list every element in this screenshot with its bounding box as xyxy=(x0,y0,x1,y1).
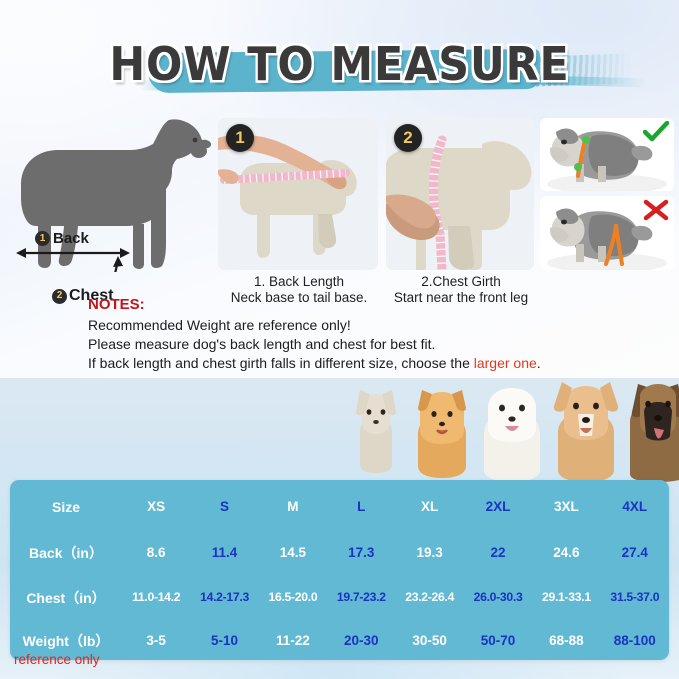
notes-heading: NOTES: xyxy=(88,296,145,313)
cell-size-2xl: 2XL xyxy=(464,500,532,514)
row-label-size: Size xyxy=(10,500,122,514)
dog-breeds-photo-band xyxy=(338,378,679,482)
title-banner: HOW TO MEASURE xyxy=(0,33,679,105)
size-chart-infographic: HOW TO MEASURE xyxy=(0,0,679,679)
panel-number-badge-2: 2 xyxy=(394,124,422,152)
cell-chest-s: 14.2-17.3 xyxy=(190,591,258,603)
table-footnote: reference only xyxy=(14,652,100,667)
dog-corgi xyxy=(554,382,619,482)
table-row-size: Size XS S M L XL 2XL 3XL 4XL xyxy=(10,484,669,529)
caption-chest-girth: 2.Chest Girth Start near the front leg xyxy=(386,274,536,306)
cross-icon xyxy=(643,199,669,221)
cell-size-xl: XL xyxy=(395,500,463,514)
cell-size-xs: XS xyxy=(122,500,190,514)
dog-bichon xyxy=(484,388,540,482)
dog-german-shepherd xyxy=(630,384,679,482)
page-title: HOW TO MEASURE xyxy=(24,33,655,95)
cell-size-3xl: 3XL xyxy=(532,500,600,514)
cell-chest-xl: 23.2-26.4 xyxy=(395,591,463,603)
cell-back-s: 11.4 xyxy=(190,546,258,560)
dog-breeds-illustration xyxy=(338,378,679,482)
back-number-badge: 1 xyxy=(35,231,50,246)
caption-back-line2: Neck base to tail base. xyxy=(218,290,380,306)
cell-weight-3xl: 68-88 xyxy=(532,634,600,648)
incorrect-fit-photo xyxy=(540,196,674,270)
correct-fit-photo xyxy=(540,118,674,191)
chest-number-badge: 2 xyxy=(52,289,67,304)
notes-line-1: Recommended Weight are reference only! xyxy=(88,316,658,335)
cell-back-2xl: 22 xyxy=(464,546,532,560)
cell-chest-m: 16.5-20.0 xyxy=(259,591,327,603)
notes-line-2: Please measure dog's back length and che… xyxy=(88,335,658,354)
notes-line-3-pre: If back length and chest girth falls in … xyxy=(88,355,474,371)
row-label-weight: Weight（lb） xyxy=(10,634,122,648)
cell-weight-s: 5-10 xyxy=(190,634,258,648)
notes-line-3-highlight: larger one xyxy=(474,355,537,371)
dog-silhouette-icon xyxy=(2,112,214,272)
cell-chest-l: 19.7-23.2 xyxy=(327,591,395,603)
chest-girth-photo: 2 xyxy=(386,118,534,270)
top-section: HOW TO MEASURE xyxy=(0,0,679,378)
cell-back-m: 14.5 xyxy=(259,546,327,560)
cell-chest-2xl: 26.0-30.3 xyxy=(464,591,532,603)
cell-back-4xl: 27.4 xyxy=(601,546,669,560)
caption-chest-line1: 2.Chest Girth xyxy=(386,274,536,290)
cell-weight-m: 11-22 xyxy=(259,634,327,648)
table-row-weight: Weight（lb） 3-5 5-10 11-22 20-30 30-50 50… xyxy=(10,618,669,663)
cell-chest-3xl: 29.1-33.1 xyxy=(532,591,600,603)
caption-back-line1: 1. Back Length xyxy=(218,274,380,290)
cell-back-xl: 19.3 xyxy=(395,546,463,560)
dog-silhouette-diagram: 1 Back 2 Chest xyxy=(2,112,214,272)
dog-chihuahua xyxy=(356,390,396,473)
notes-body: Recommended Weight are reference only! P… xyxy=(88,316,658,373)
cell-weight-l: 20-30 xyxy=(327,634,395,648)
back-measure-label: 1 Back xyxy=(35,230,89,247)
cell-size-m: M xyxy=(259,500,327,514)
cell-weight-xs: 3-5 xyxy=(122,634,190,648)
size-chart-table: Size XS S M L XL 2XL 3XL 4XL Back（in） 8.… xyxy=(10,480,669,660)
table-row-chest: Chest（in） 11.0-14.2 14.2-17.3 16.5-20.0 … xyxy=(10,575,669,620)
caption-chest-line2: Start near the front leg xyxy=(386,290,536,306)
cell-chest-xs: 11.0-14.2 xyxy=(122,591,190,603)
back-length-photo: 1 xyxy=(218,118,378,270)
cell-weight-2xl: 50-70 xyxy=(464,634,532,648)
cell-back-xs: 8.6 xyxy=(122,546,190,560)
cell-size-l: L xyxy=(327,500,395,514)
caption-back-length: 1. Back Length Neck base to tail base. xyxy=(218,274,380,306)
cell-weight-4xl: 88-100 xyxy=(601,634,669,648)
panel-number-badge-1: 1 xyxy=(226,124,254,152)
cell-size-s: S xyxy=(190,500,258,514)
notes-line-3-post: . xyxy=(537,355,541,371)
check-icon xyxy=(643,121,669,143)
notes-line-3: If back length and chest girth falls in … xyxy=(88,354,658,373)
cell-weight-xl: 30-50 xyxy=(395,634,463,648)
cell-back-l: 17.3 xyxy=(327,546,395,560)
row-label-chest: Chest（in） xyxy=(10,591,122,605)
row-label-back: Back（in） xyxy=(10,546,122,560)
dog-pomeranian xyxy=(418,390,466,478)
back-label-text: Back xyxy=(53,230,89,247)
cell-back-3xl: 24.6 xyxy=(532,546,600,560)
cell-chest-4xl: 31.5-37.0 xyxy=(601,591,669,603)
table-row-back: Back（in） 8.6 11.4 14.5 17.3 19.3 22 24.6… xyxy=(10,530,669,575)
cell-size-4xl: 4XL xyxy=(601,500,669,514)
